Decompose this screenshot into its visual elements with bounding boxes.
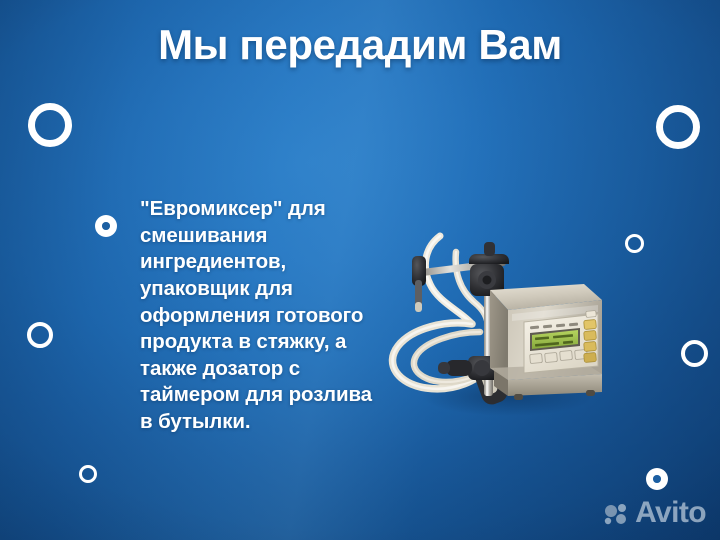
product-photo (372, 228, 604, 430)
avito-wordmark: Avito (635, 498, 706, 528)
ring-mid-left-small (27, 322, 53, 348)
ring-bottom-left-small (79, 465, 97, 483)
ring-lower-right (681, 340, 708, 367)
avito-watermark: Avito (604, 498, 706, 528)
panel-side-keys (586, 311, 596, 318)
ring-mid-right-small (625, 234, 644, 253)
dot-ring-above-logo (646, 468, 668, 490)
bullet-dot-ring (95, 215, 117, 237)
machine-foot-right (586, 390, 595, 396)
machine-foot-left (514, 394, 523, 400)
promo-banner: Мы передадим Вам "Евромиксер" для смешив… (0, 0, 720, 540)
description-block: "Евромиксер" для смешивания ингредиентов… (140, 196, 380, 436)
ring-top-left-large (28, 103, 72, 147)
filling-machine-illustration (372, 228, 604, 430)
description-text: "Евромиксер" для смешивания ингредиентов… (140, 196, 380, 436)
upper-clamp-knob (469, 242, 509, 296)
page-title: Мы передадим Вам (0, 22, 720, 68)
avito-dots-logo (604, 502, 630, 525)
ring-top-right-large (656, 105, 700, 149)
